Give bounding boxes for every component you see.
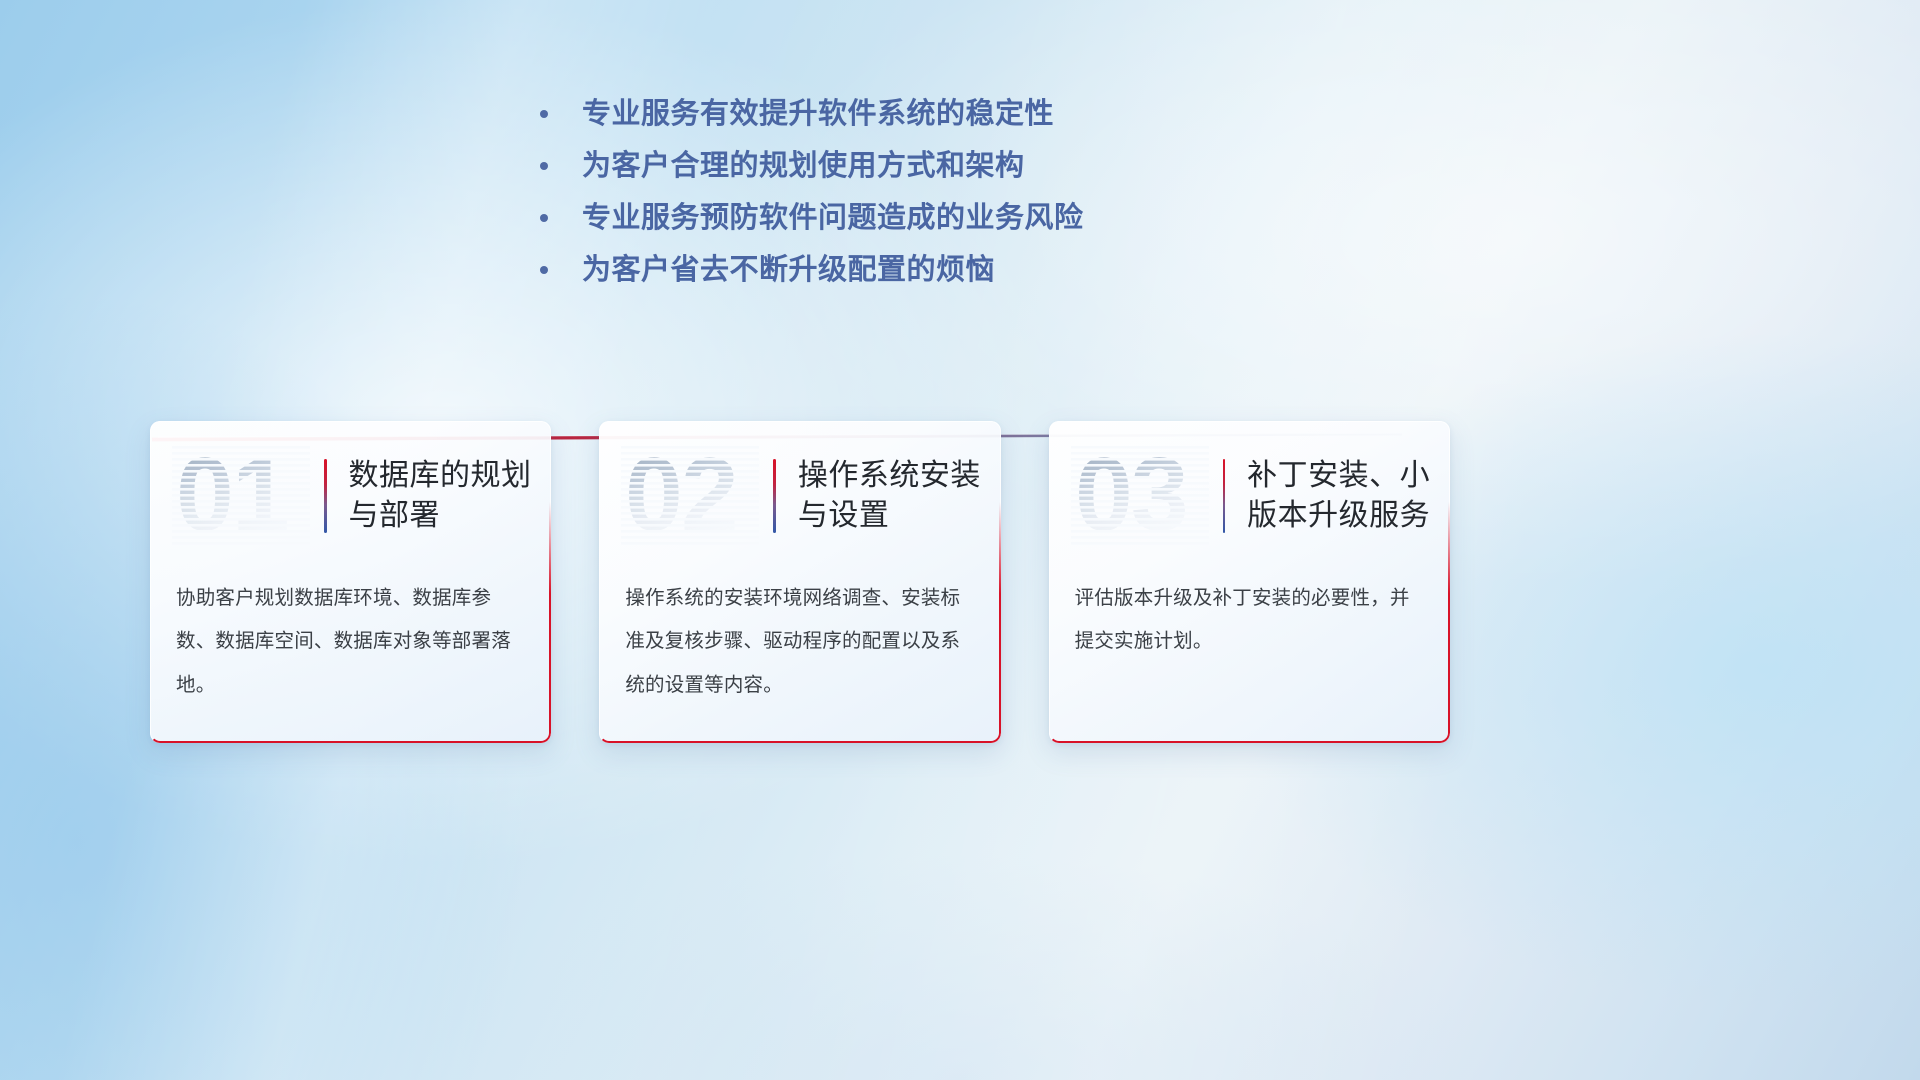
card-description: 操作系统的安装环境网络调查、安装标准及复核步骤、驱动程序的配置以及系统的设置等内… bbox=[599, 571, 1000, 707]
list-item: 为客户省去不断升级配置的烦恼 bbox=[540, 244, 1084, 296]
service-card[interactable]: 03 bbox=[1049, 421, 1450, 743]
bullet-text: 专业服务有效提升软件系统的稳定性 bbox=[582, 100, 1054, 129]
card-header: 02 bbox=[599, 421, 1000, 571]
card-number-watermark-icon: 01 bbox=[172, 444, 310, 548]
card-title: 补丁安装、小 版本升级服务 bbox=[1247, 456, 1430, 535]
card-number-watermark-icon: 02 bbox=[621, 444, 759, 548]
bullet-dot-icon bbox=[540, 162, 548, 170]
card-description: 评估版本升级及补丁安装的必要性，并提交实施计划。 bbox=[1049, 571, 1450, 664]
bullet-dot-icon bbox=[540, 266, 548, 274]
service-card[interactable]: 01 bbox=[150, 421, 551, 743]
bullet-text: 为客户省去不断升级配置的烦恼 bbox=[582, 256, 995, 285]
list-item: 专业服务有效提升软件系统的稳定性 bbox=[540, 88, 1084, 140]
bullet-dot-icon bbox=[540, 110, 548, 118]
list-item: 为客户合理的规划使用方式和架构 bbox=[540, 140, 1084, 192]
card-accent-rule bbox=[1223, 459, 1226, 533]
card-header: 01 bbox=[150, 421, 551, 571]
card-title: 数据库的规划 与部署 bbox=[349, 456, 532, 535]
card-header: 03 bbox=[1049, 421, 1450, 571]
card-description: 协助客户规划数据库环境、数据库参数、数据库空间、数据库对象等部署落地。 bbox=[150, 571, 551, 707]
card-accent-rule bbox=[324, 459, 327, 533]
bullet-text: 为客户合理的规划使用方式和架构 bbox=[582, 152, 1025, 181]
card-accent-rule bbox=[773, 459, 776, 533]
benefits-bullet-list: 专业服务有效提升软件系统的稳定性 为客户合理的规划使用方式和架构 专业服务预防软… bbox=[540, 88, 1084, 296]
bullet-dot-icon bbox=[540, 214, 548, 222]
list-item: 专业服务预防软件问题造成的业务风险 bbox=[540, 192, 1084, 244]
card-title: 操作系统安装 与设置 bbox=[798, 456, 981, 535]
service-card-list: 01 bbox=[150, 421, 1450, 751]
service-card[interactable]: 02 bbox=[599, 421, 1000, 743]
bullet-text: 专业服务预防软件问题造成的业务风险 bbox=[582, 204, 1084, 233]
card-number-watermark-icon: 03 bbox=[1071, 444, 1209, 548]
